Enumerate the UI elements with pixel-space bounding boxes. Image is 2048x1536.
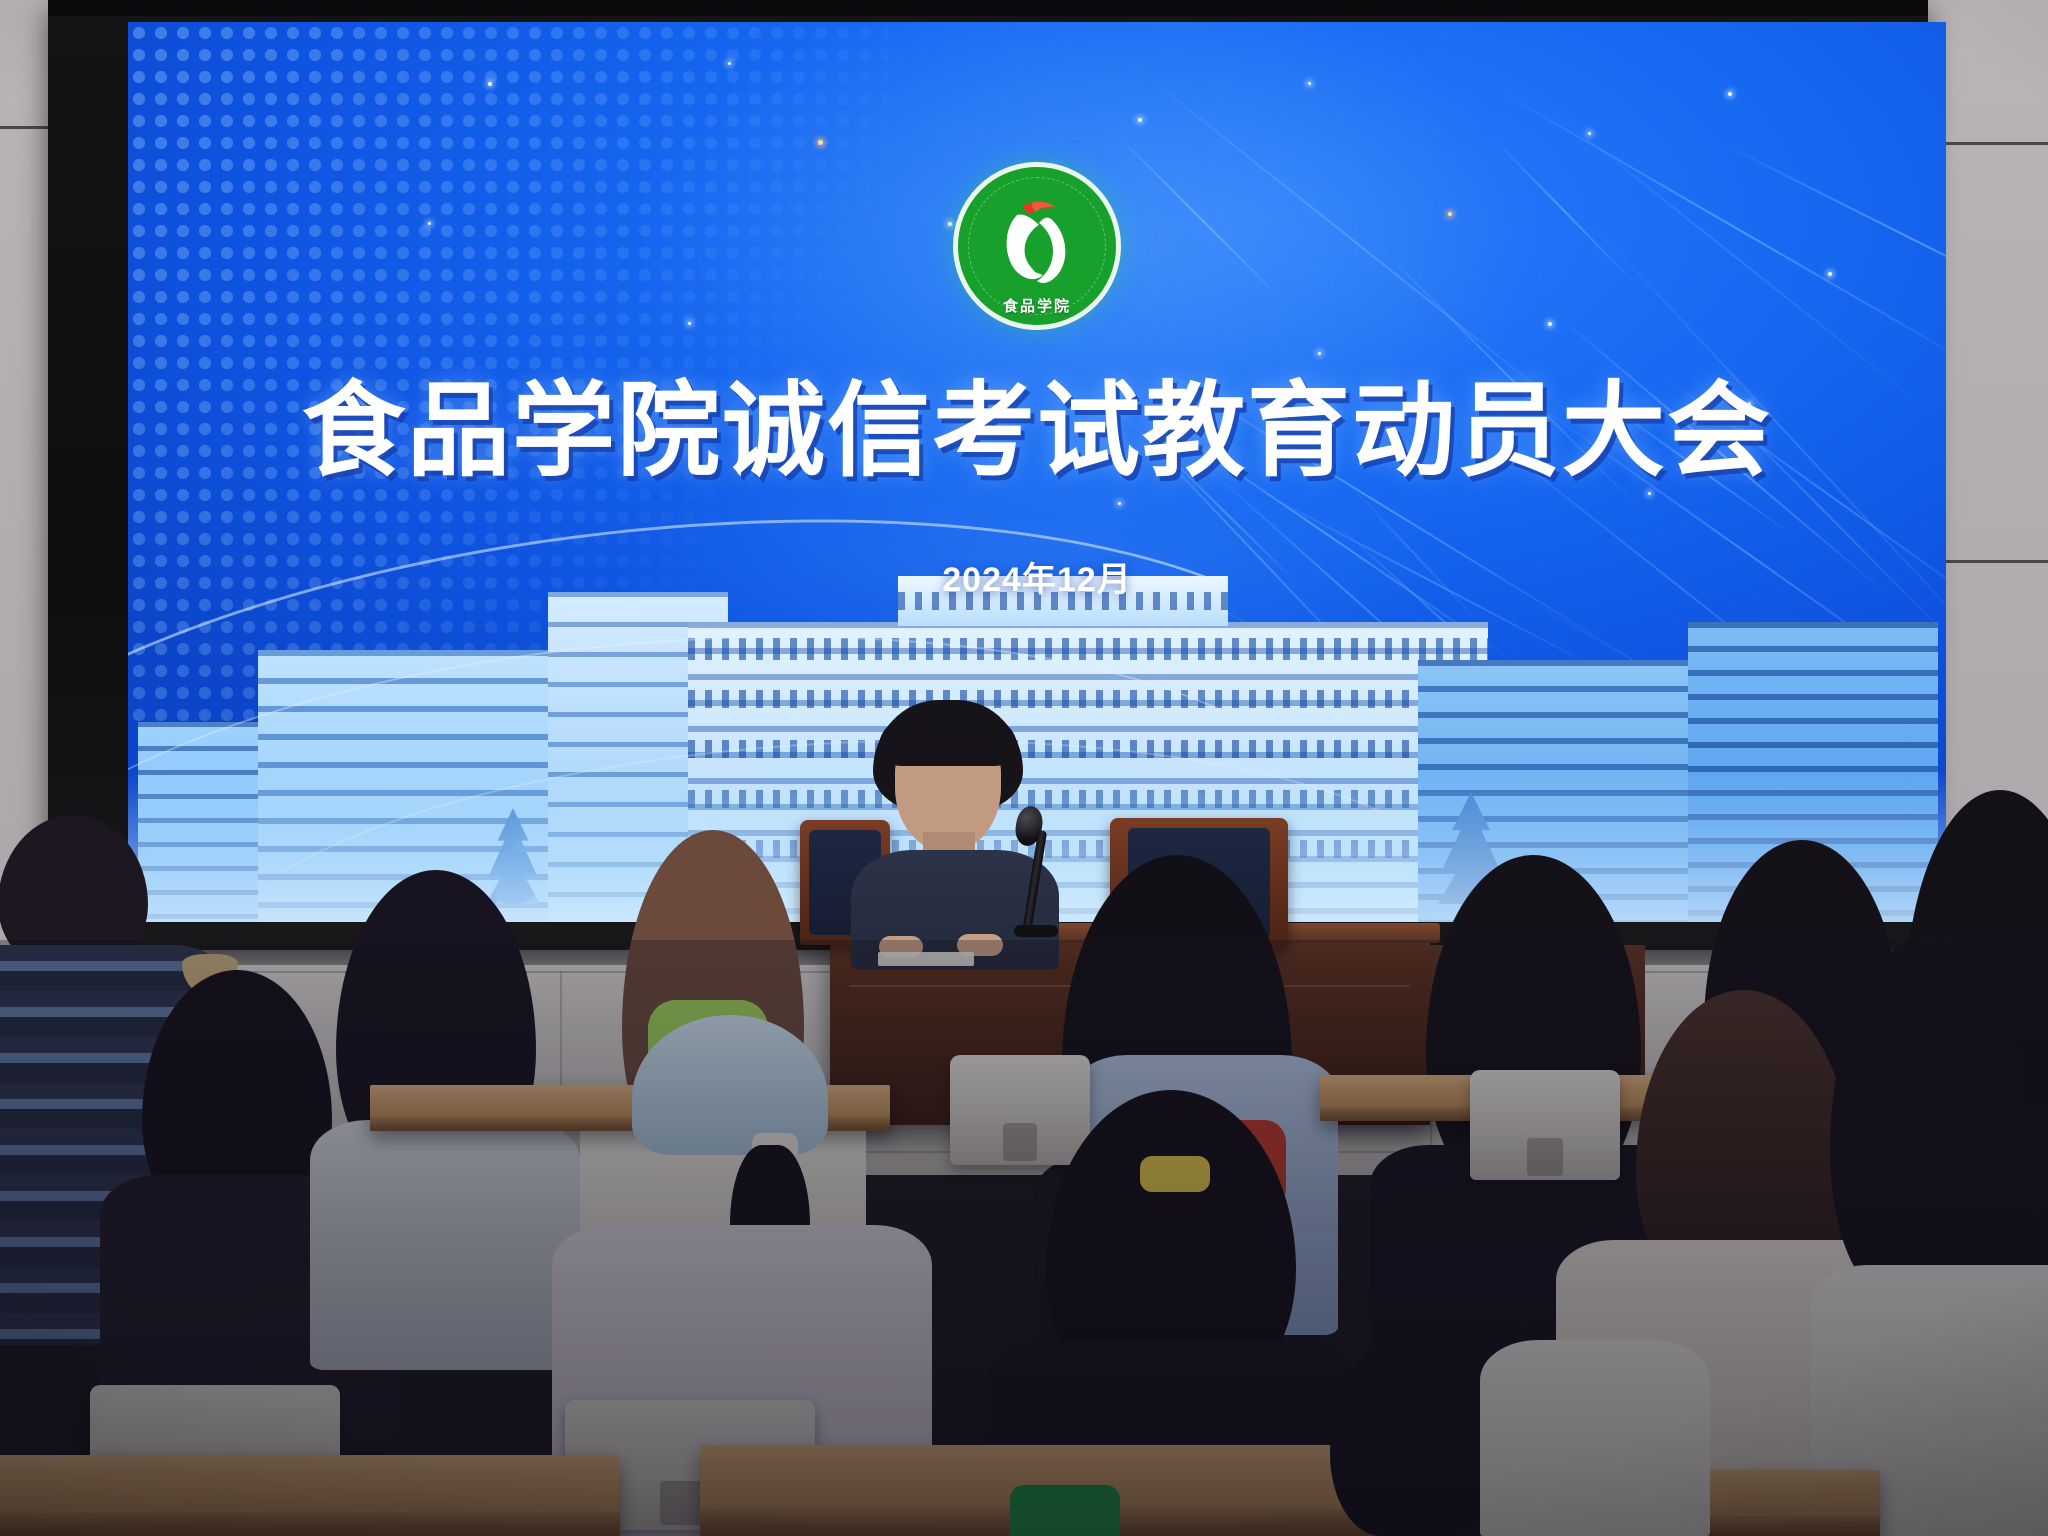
- wall-seam-right: [1942, 142, 2048, 145]
- sparkle-particle: [488, 82, 492, 86]
- screenshot-root: 食品学院 食品学院诚信考试教育动员大会 2024年12月: [0, 0, 2048, 1536]
- sparkle-particle: [1308, 82, 1311, 85]
- sparkle-particle: [1828, 272, 1832, 276]
- sparkle-particle: [948, 222, 952, 226]
- sparkle-particle: [1318, 352, 1321, 355]
- attendee-foreground-right: [1330, 1330, 1690, 1536]
- sparkle-particle: [428, 222, 431, 225]
- slide-title: 食品学院诚信考试教育动员大会: [128, 377, 1946, 484]
- attendee-cap-icon: [632, 1015, 828, 1155]
- light-streak: [1110, 129, 1289, 308]
- foreground-green-object: [1010, 1485, 1120, 1536]
- sparkle-particle: [1588, 132, 1591, 135]
- bezel-top-strip: [48, 0, 1928, 16]
- attendee-hairtie: [1140, 1156, 1210, 1192]
- logo-glyph-icon: [985, 201, 1089, 297]
- slide-subtitle: 2024年12月: [128, 552, 1946, 601]
- attendee-hair: [1830, 935, 2030, 1295]
- presenter-fringe: [879, 710, 1017, 766]
- sparkle-particle: [1448, 212, 1452, 216]
- attendee-white-jacket-right: [1830, 935, 2048, 1536]
- sparkle-particle: [818, 140, 823, 145]
- attendee-torso: [310, 1120, 580, 1370]
- light-streak: [1521, 85, 1942, 421]
- podium-document: [878, 952, 974, 966]
- light-streak: [1489, 84, 1946, 374]
- sparkle-particle: [1728, 92, 1732, 96]
- sparkle-particle: [1548, 322, 1552, 326]
- sparkle-particle: [1138, 118, 1142, 122]
- college-logo: 食品学院: [953, 162, 1121, 330]
- wall-seam-right-lower: [1942, 560, 2048, 563]
- logo-caption: 食品学院: [958, 295, 1116, 316]
- sparkle-particle: [688, 322, 691, 325]
- attendee-torso: [1480, 1340, 1710, 1536]
- logo-disc: 食品学院: [953, 162, 1121, 330]
- attendee-hair: [1330, 1330, 1500, 1536]
- desk-front-left: [0, 1455, 620, 1536]
- sparkle-particle: [728, 62, 731, 65]
